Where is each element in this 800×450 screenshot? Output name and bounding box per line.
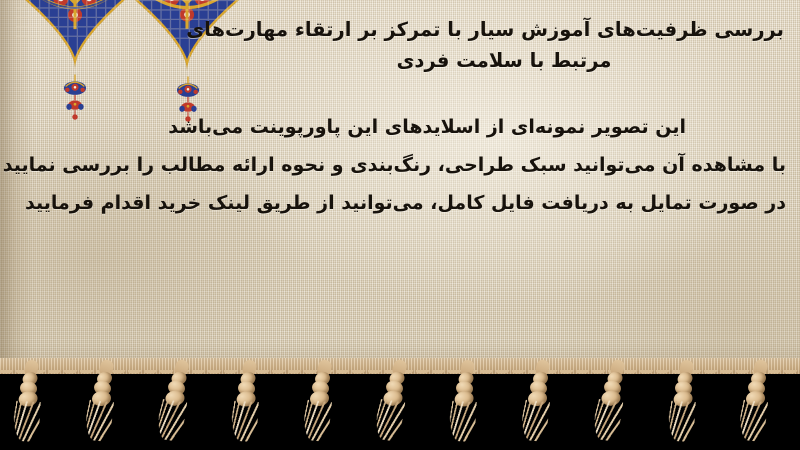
tassel-skirt [449, 401, 477, 442]
slide-body-line-1: این تصویر نمونه‌ای از اسلایدهای این پاور… [14, 108, 786, 146]
tassel-skirt [667, 401, 695, 442]
tassel [86, 370, 130, 444]
tassel-skirt [155, 399, 187, 443]
tassel-skirt [738, 400, 768, 442]
slide-title: بررسی ظرفیت‌های آموزش سیار با تمرکز بر ا… [224, 14, 784, 76]
carpet-fringe-tassels [0, 358, 800, 450]
tassel [375, 369, 423, 445]
tassel [666, 369, 714, 445]
tassel-skirt [373, 399, 405, 443]
tassel [740, 370, 784, 444]
tassel [157, 369, 205, 445]
slide-body-text: این تصویر نمونه‌ای از اسلایدهای این پاور… [14, 108, 786, 222]
tassel [522, 370, 566, 444]
tassel-skirt [302, 400, 332, 442]
tassel-skirt [591, 399, 623, 443]
tassel [11, 369, 59, 445]
tassel-row [0, 370, 800, 446]
slide-body-line-2: با مشاهده آن می‌توانید سبک طراحی، رنگ‌بن… [14, 146, 786, 184]
tassel [304, 370, 348, 444]
tassel [229, 369, 277, 445]
presentation-slide: بررسی ظرفیت‌های آموزش سیار با تمرکز بر ا… [0, 0, 800, 450]
slide-body-line-3: در صورت تمایل به دریافت فایل کامل، می‌تو… [14, 184, 786, 222]
tassel-skirt [13, 401, 41, 442]
slide-title-line-1: بررسی ظرفیت‌های آموزش سیار با تمرکز بر ا… [224, 14, 784, 45]
tassel [448, 369, 496, 445]
tassel-skirt [84, 400, 114, 442]
tassel-skirt [520, 400, 550, 442]
tassel [593, 369, 641, 445]
tassel-skirt [231, 401, 259, 442]
slide-title-line-2: مرتبط با سلامت فردی [224, 45, 784, 76]
